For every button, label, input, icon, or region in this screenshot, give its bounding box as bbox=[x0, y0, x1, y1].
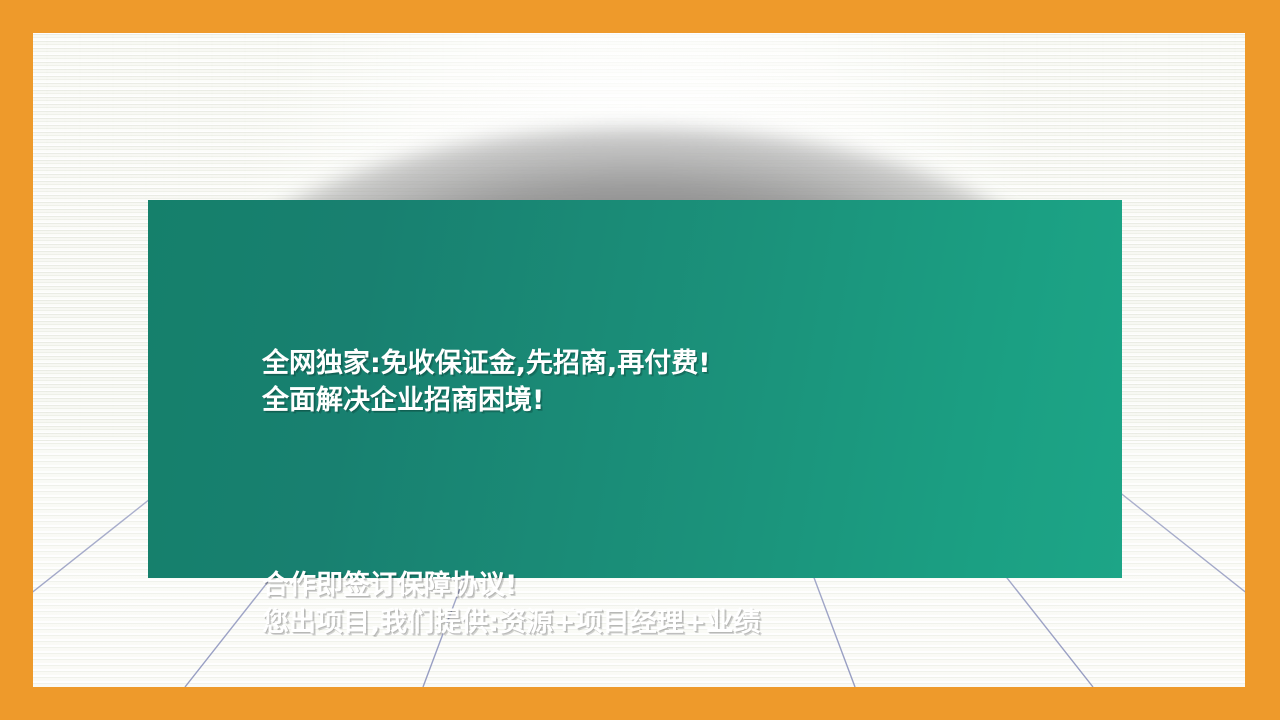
promo-text-block: 全网独家:免收保证金,先招商,再付费!全面解决企业招商困境! 合作即签订保障协议… bbox=[262, 234, 1122, 687]
promo-line-offer-1: 全网独家:免收保证金,先招商,再付费! bbox=[262, 348, 711, 379]
promo-paragraph-offer: 全网独家:免收保证金,先招商,再付费!全面解决企业招商困境! bbox=[262, 345, 1122, 419]
room-stage: 全网独家:免收保证金,先招商,再付费!全面解决企业招商困境! 合作即签订保障协议… bbox=[33, 33, 1245, 687]
promo-panel: 全网独家:免收保证金,先招商,再付费!全面解决企业招商困境! 合作即签订保障协议… bbox=[148, 200, 1122, 578]
promo-line-guarantee-2: 您出项目,我们提供:资源+项目经理+业绩 bbox=[262, 607, 760, 638]
promo-line-guarantee-1: 合作即签订保障协议! bbox=[262, 570, 517, 601]
slide-canvas: 全网独家:免收保证金,先招商,再付费!全面解决企业招商困境! 合作即签订保障协议… bbox=[0, 0, 1280, 720]
promo-line-offer-2: 全面解决企业招商困境! bbox=[262, 385, 544, 416]
promo-paragraph-guarantee: 合作即签订保障协议!您出项目,我们提供:资源+项目经理+业绩 bbox=[262, 567, 1122, 641]
